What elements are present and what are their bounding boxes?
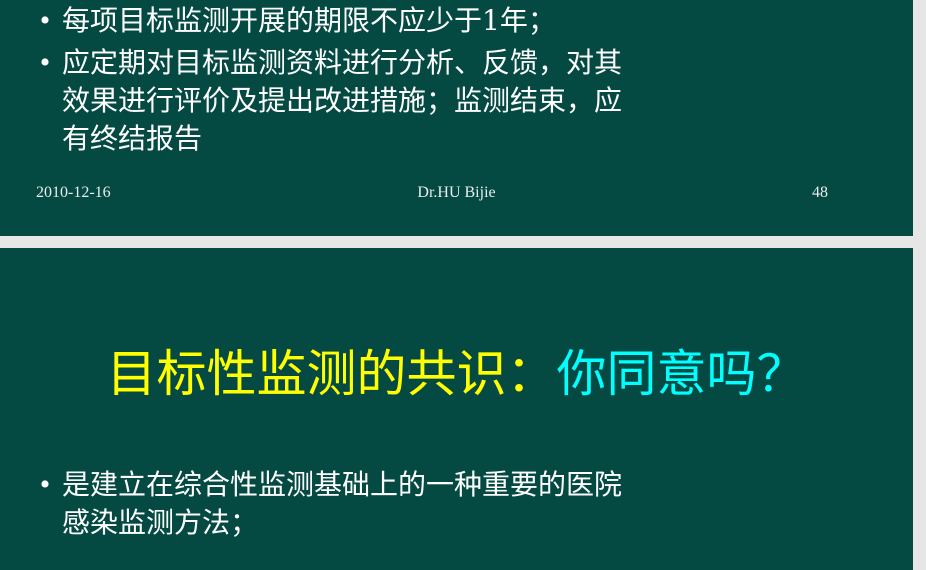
footer-author: Dr.HU Bijie xyxy=(0,180,913,206)
footer-page-number: 48 xyxy=(812,180,828,206)
bullet-text: 每项目标监测开展的期限不应少于1年； xyxy=(62,2,903,40)
bullet-item: • 每项目标监测开展的期限不应少于1年； xyxy=(28,2,903,40)
bullet-item: • 是建立在综合性监测基础上的一种重要的医院 感染监测方法； xyxy=(28,466,903,542)
bullet-marker-icon: • xyxy=(28,44,62,82)
slide-deck: • 每项目标监测开展的期限不应少于1年； • 应定期对目标监测资料进行分析、反馈… xyxy=(0,0,926,570)
bullet-text: 应定期对目标监测资料进行分析、反馈，对其 效果进行评价及提出改进措施；监测结束，… xyxy=(62,44,903,158)
slide-top-right-margin xyxy=(913,0,926,236)
slide-footer: 2010-12-16 Dr.HU Bijie 48 xyxy=(0,180,913,206)
slide-bottom-bullet-list: • 是建立在综合性监测基础上的一种重要的医院 感染监测方法； xyxy=(28,466,903,542)
bullet-marker-icon: • xyxy=(28,466,62,504)
slide-divider xyxy=(0,236,926,248)
slide-top-bullet-list: • 每项目标监测开展的期限不应少于1年； • 应定期对目标监测资料进行分析、反馈… xyxy=(28,2,903,158)
bullet-item: • 应定期对目标监测资料进行分析、反馈，对其 效果进行评价及提出改进措施；监测结… xyxy=(28,44,903,158)
bullet-text: 是建立在综合性监测基础上的一种重要的医院 感染监测方法； xyxy=(62,466,903,542)
slide-bottom: 目标性监测的共识：你同意吗？ • 是建立在综合性监测基础上的一种重要的医院 感染… xyxy=(0,248,913,570)
slide-title-part-a: 目标性监测的共识： xyxy=(107,345,557,403)
bullet-marker-icon: • xyxy=(28,2,62,40)
slide-title: 目标性监测的共识：你同意吗？ xyxy=(0,343,913,405)
slide-top: • 每项目标监测开展的期限不应少于1年； • 应定期对目标监测资料进行分析、反馈… xyxy=(0,0,913,236)
slide-bottom-right-margin xyxy=(913,248,926,570)
slide-title-part-b: 你同意吗？ xyxy=(557,345,807,403)
